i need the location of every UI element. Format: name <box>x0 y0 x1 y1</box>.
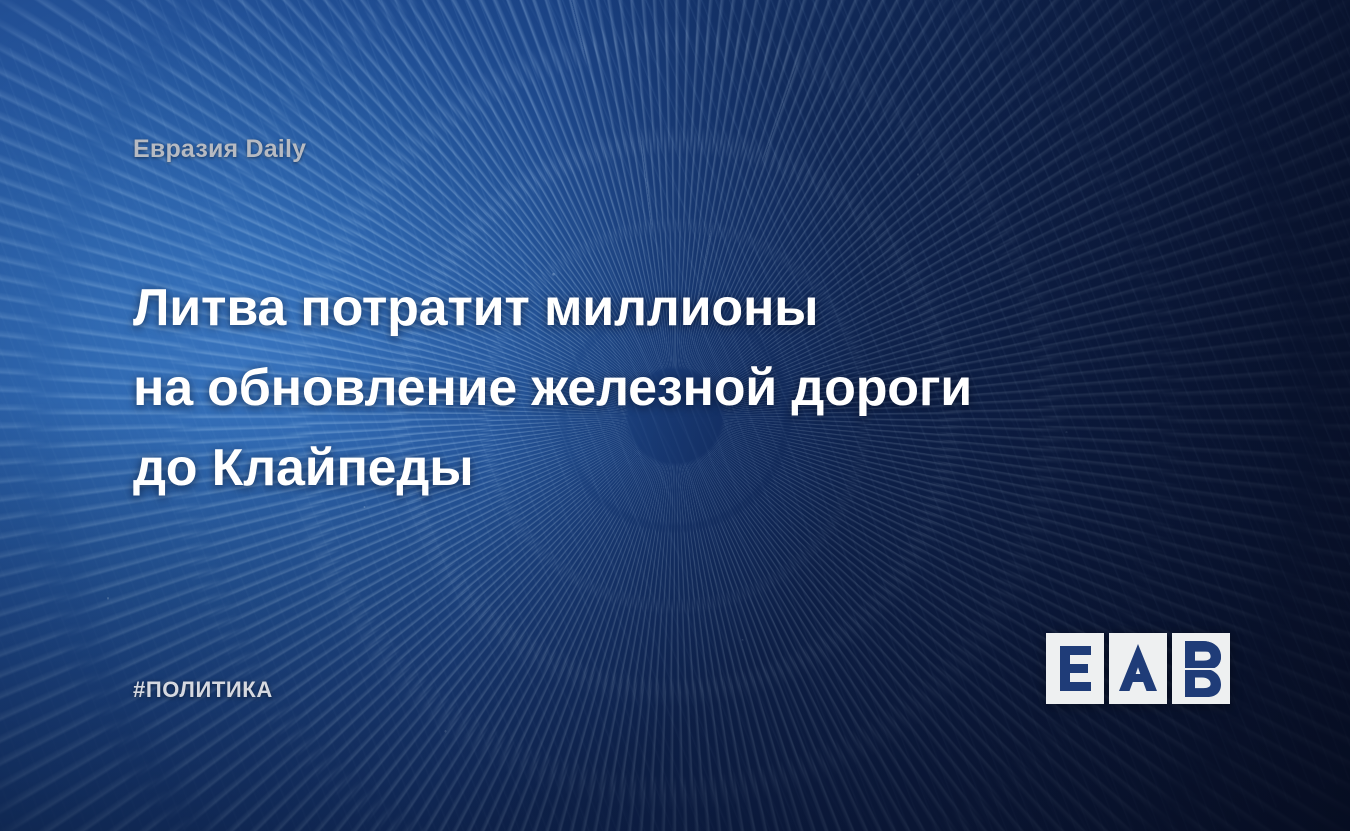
headline-line-3: до Клайпеды <box>133 428 1033 508</box>
article-cover-card: Евразия Daily Литва потратит миллионы на… <box>0 0 1350 831</box>
headline-line-1: Литва потратит миллионы <box>133 268 1033 348</box>
logo-tile-a <box>1109 633 1167 704</box>
eadaily-logo[interactable] <box>1046 633 1230 704</box>
logo-tile-e <box>1046 633 1104 704</box>
card-content: Евразия Daily Литва потратит миллионы на… <box>0 0 1350 831</box>
headline: Литва потратит миллионы на обновление же… <box>133 268 1033 508</box>
headline-line-2: на обновление железной дороги <box>133 348 1033 428</box>
rubric-tag[interactable]: #ПОЛИТИКА <box>133 677 273 703</box>
brand-name: Евразия Daily <box>133 135 306 164</box>
logo-tile-d <box>1172 633 1230 704</box>
